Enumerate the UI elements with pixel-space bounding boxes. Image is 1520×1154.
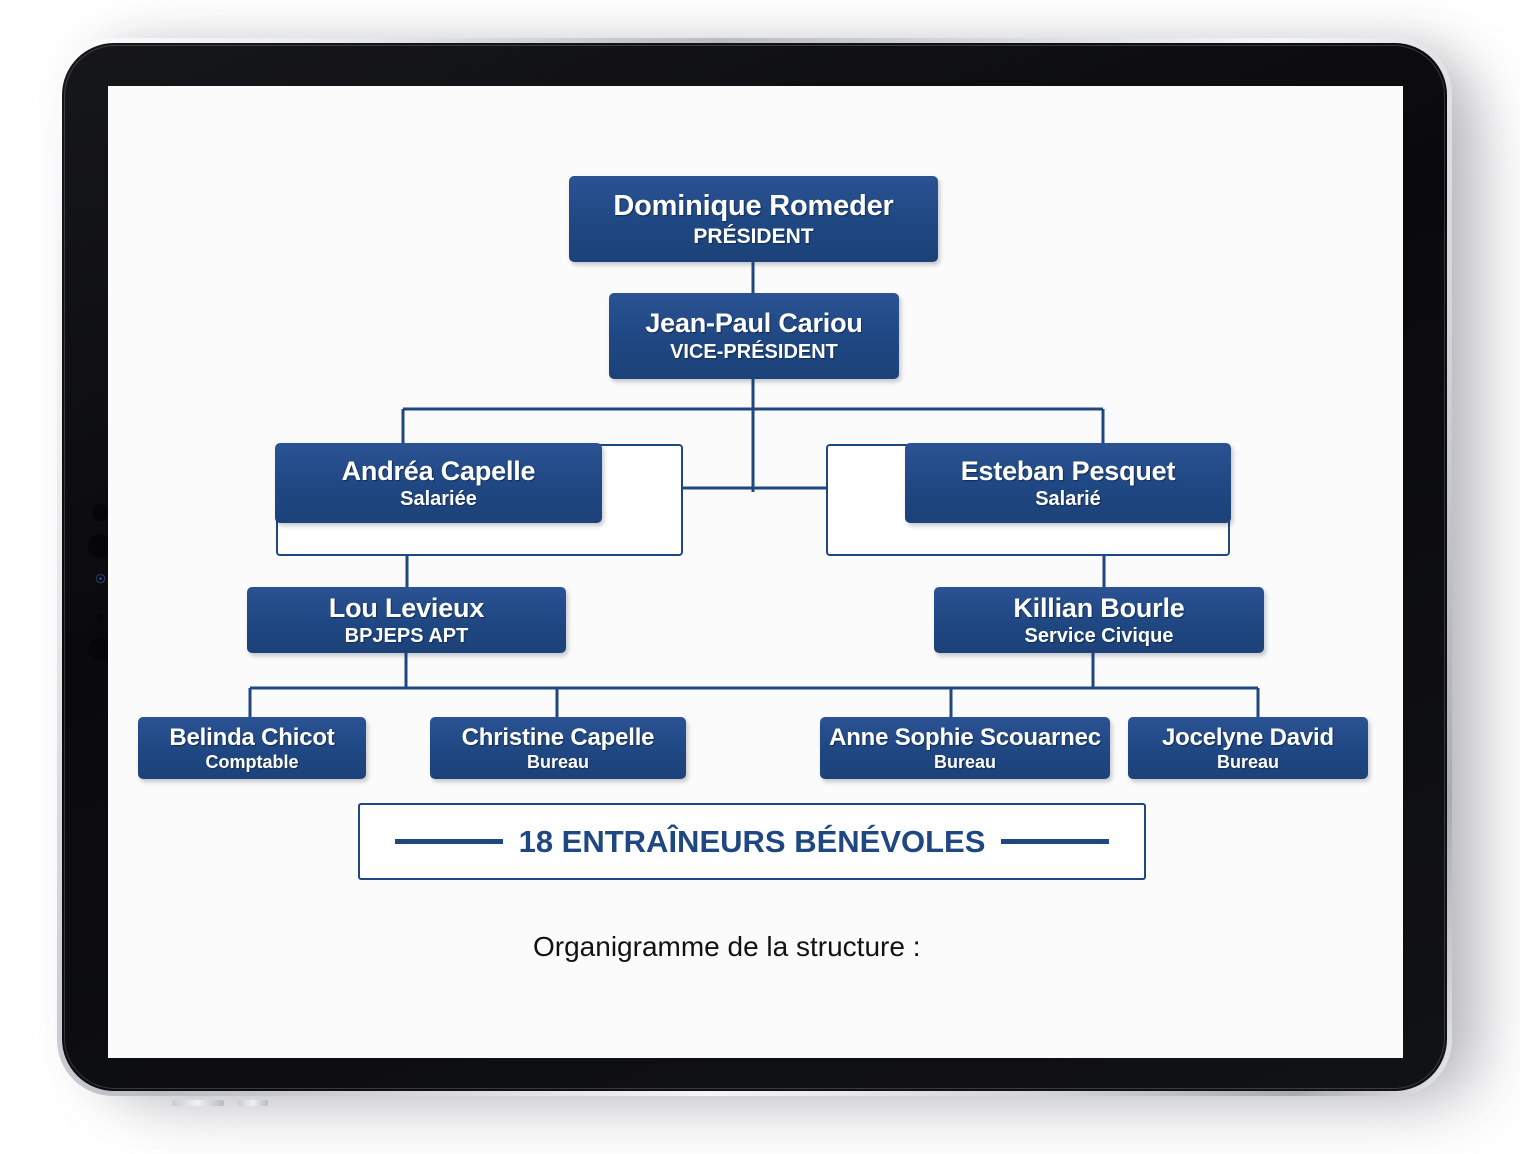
node-comptable-name: Belinda Chicot	[169, 724, 334, 752]
chart-caption: Organigramme de la structure :	[533, 931, 921, 963]
headphone-jack-icon: ☉	[93, 572, 108, 587]
banner-rule-right	[1001, 839, 1109, 844]
banner-label: 18 ENTRAÎNEURS BÉNÉVOLES	[519, 824, 986, 860]
node-vice-president-name: Jean-Paul Cariou	[645, 308, 862, 339]
node-salarie-name: Esteban Pesquet	[961, 456, 1176, 487]
tablet-screen: Dominique Romeder PRÉSIDENT Jean-Paul Ca…	[108, 86, 1403, 1058]
screenshot-stage: ☉	[0, 0, 1520, 1154]
node-salariee-role: Salariée	[400, 488, 477, 511]
node-bureau-3-role: Bureau	[1217, 752, 1279, 773]
node-salarie-role: Salarié	[1035, 488, 1101, 511]
org-chart: Dominique Romeder PRÉSIDENT Jean-Paul Ca…	[108, 86, 1403, 1058]
node-salarie[interactable]: Esteban Pesquet Salarié	[905, 443, 1231, 523]
node-president-name: Dominique Romeder	[613, 190, 893, 223]
node-bpjeps[interactable]: Lou Levieux BPJEPS APT	[247, 587, 566, 653]
node-bpjeps-name: Lou Levieux	[329, 593, 484, 624]
node-bureau-3-name: Jocelyne David	[1162, 724, 1334, 752]
node-salariee[interactable]: Andréa Capelle Salariée	[275, 443, 602, 523]
node-comptable-role: Comptable	[205, 752, 298, 773]
node-vice-president[interactable]: Jean-Paul Cariou VICE-PRÉSIDENT	[609, 293, 899, 379]
node-salariee-name: Andréa Capelle	[342, 456, 536, 487]
camera-dot-icon	[92, 504, 109, 521]
banner-rule-left	[395, 839, 503, 844]
node-bureau-1-name: Christine Capelle	[462, 724, 655, 752]
node-bpjeps-role: BPJEPS APT	[345, 625, 469, 648]
node-president-role: PRÉSIDENT	[693, 225, 813, 249]
node-bureau-1[interactable]: Christine Capelle Bureau	[430, 717, 686, 779]
node-comptable[interactable]: Belinda Chicot Comptable	[138, 717, 366, 779]
power-button[interactable]	[238, 1100, 268, 1106]
node-bureau-2-role: Bureau	[934, 752, 996, 773]
node-bureau-2[interactable]: Anne Sophie Scouarnec Bureau	[820, 717, 1110, 779]
node-bureau-2-name: Anne Sophie Scouarnec	[829, 724, 1101, 752]
node-vice-president-role: VICE-PRÉSIDENT	[670, 341, 838, 364]
node-president[interactable]: Dominique Romeder PRÉSIDENT	[569, 176, 938, 262]
node-service-civique-name: Killian Bourle	[1013, 593, 1184, 624]
microphone-dot-icon	[97, 614, 104, 621]
volunteer-coaches-banner: 18 ENTRAÎNEURS BÉNÉVOLES	[358, 803, 1146, 880]
node-bureau-3[interactable]: Jocelyne David Bureau	[1128, 717, 1368, 779]
volume-button[interactable]	[172, 1100, 224, 1106]
node-bureau-1-role: Bureau	[527, 752, 589, 773]
node-service-civique-role: Service Civique	[1025, 625, 1174, 648]
node-service-civique[interactable]: Killian Bourle Service Civique	[934, 587, 1264, 653]
